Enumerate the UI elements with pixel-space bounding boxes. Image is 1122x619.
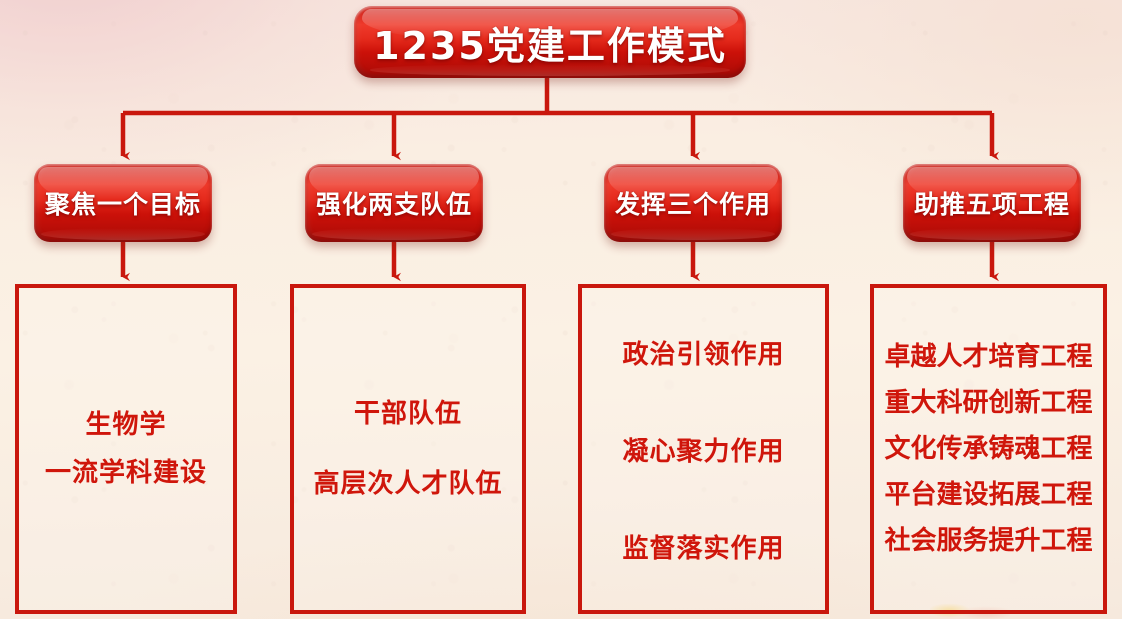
panel-item: 卓越人才培育工程 [884, 336, 1092, 378]
branch-header-2: 强化两支队伍 [305, 164, 483, 242]
branch-panel-1: 生物学 一流学科建设 [15, 284, 237, 614]
panel-item: 社会服务提升工程 [884, 520, 1092, 562]
panel-item: 高层次人才队伍 [313, 466, 502, 502]
branch-header-3: 发挥三个作用 [604, 164, 782, 242]
panel-item: 重大科研创新工程 [884, 382, 1092, 424]
branch-header-4: 助推五项工程 [903, 164, 1081, 242]
panel-item: 文化传承铸魂工程 [884, 428, 1092, 470]
panel-item: 政治引领作用 [622, 334, 784, 371]
branch-header-label-3: 发挥三个作用 [615, 185, 771, 221]
branch-header-label-2: 强化两支队伍 [316, 185, 472, 221]
branch-panel-4: 卓越人才培育工程 重大科研创新工程 文化传承铸魂工程 平台建设拓展工程 社会服务… [870, 284, 1107, 614]
branch-header-label-4: 助推五项工程 [914, 185, 1070, 221]
panel-item: 凝心聚力作用 [622, 431, 784, 468]
panel-item: 平台建设拓展工程 [884, 474, 1092, 516]
branch-panel-2: 干部队伍 高层次人才队伍 [290, 284, 526, 614]
branch-header-1: 聚焦一个目标 [34, 164, 212, 242]
panel-item-stack: 政治引领作用 凝心聚力作用 监督落实作用 [622, 334, 784, 565]
diagram-title: 1235党建工作模式 [373, 15, 727, 70]
panel-item: 生物学 [85, 401, 166, 449]
panel-item: 监督落实作用 [622, 528, 784, 565]
panel-item: 干部队伍 [354, 396, 462, 432]
panel-item-stack: 卓越人才培育工程 重大科研创新工程 文化传承铸魂工程 平台建设拓展工程 社会服务… [884, 336, 1092, 563]
diagram-title-badge: 1235党建工作模式 [354, 6, 746, 78]
diagram-canvas: 1235党建工作模式 聚焦一个目标 强化两支队伍 发挥三个作用 助推五项工程 生… [0, 0, 1122, 619]
panel-item: 一流学科建设 [45, 449, 207, 497]
branch-panel-3: 政治引领作用 凝心聚力作用 监督落实作用 [578, 284, 829, 614]
branch-header-label-1: 聚焦一个目标 [45, 185, 201, 221]
